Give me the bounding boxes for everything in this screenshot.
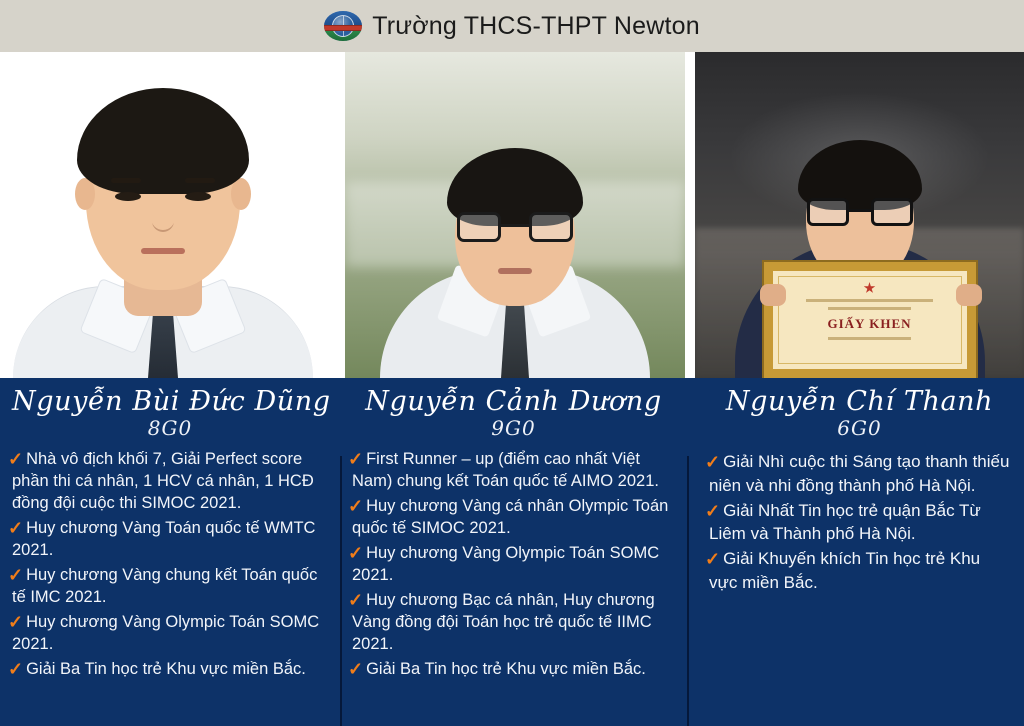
photo2-mouth <box>498 268 532 274</box>
photo2-glasses-bridge <box>501 224 529 227</box>
achievements-board: Nguyễn Bùi Đức Dũng 8G0 ✓Nhà vô địch khố… <box>0 378 1024 726</box>
achievement-text: Huy chương Vàng Olympic Toán SOMC 2021. <box>12 613 319 653</box>
photo3-glasses-icon <box>807 198 913 226</box>
poster-header: Trường THCS-THPT Newton <box>0 0 1024 52</box>
achievement-text: Giải Ba Tin học trẻ Khu vực miền Bắc. <box>366 660 646 678</box>
certificate-star-icon <box>864 282 876 294</box>
student-class-1: 8G0 <box>12 417 328 439</box>
photo3-lens-right <box>871 198 913 226</box>
achievement-item: ✓Huy chương Vàng Toán quốc tế WMTC 2021. <box>12 516 328 562</box>
achievement-item: ✓Nhà vô địch khối 7, Giải Perfect score … <box>12 447 328 515</box>
check-icon: ✓ <box>350 542 363 566</box>
student-class-3: 6G0 <box>709 417 1010 439</box>
check-icon: ✓ <box>707 499 720 523</box>
achievement-item: ✓First Runner – up (điểm cao nhất Việt N… <box>352 447 675 493</box>
student-photo-1 <box>0 52 326 378</box>
student-photo-3: GIẤY KHEN <box>695 52 1024 378</box>
achievement-text: Giải Nhì cuộc thi Sáng tạo thanh thiếu n… <box>709 452 1009 494</box>
photo1-eye-left <box>115 192 141 201</box>
photo2-glasses-icon <box>457 212 573 242</box>
photo1-brow-right <box>185 178 215 183</box>
achievement-item: ✓Giải Khuyến khích Tin học trẻ Khu vực m… <box>709 546 1010 594</box>
achievement-item: ✓Giải Ba Tin học trẻ Khu vực miền Bắc. <box>12 657 328 681</box>
achievement-text: Huy chương Vàng Toán quốc tế WMTC 2021. <box>12 519 315 559</box>
achievement-text: Huy chương Vàng Olympic Toán SOMC 2021. <box>352 544 659 584</box>
check-icon: ✓ <box>350 495 363 519</box>
school-logo-icon <box>324 11 362 41</box>
achievement-list-2: ✓First Runner – up (điểm cao nhất Việt N… <box>352 447 675 680</box>
student-name-1: Nguyễn Bùi Đức Dũng <box>12 378 328 416</box>
check-icon: ✓ <box>10 517 23 541</box>
achievement-item: ✓Giải Nhì cuộc thi Sáng tạo thanh thiếu … <box>709 449 1010 497</box>
photo1-brow-left <box>111 178 141 183</box>
photo1-mouth <box>141 248 185 254</box>
student-card-1: Nguyễn Bùi Đức Dũng 8G0 ✓Nhà vô địch khố… <box>0 378 340 726</box>
certificate-inner: GIẤY KHEN <box>778 276 962 364</box>
check-icon: ✓ <box>10 448 23 472</box>
achievement-text: Nhà vô địch khối 7, Giải Perfect score p… <box>12 450 314 512</box>
check-icon: ✓ <box>10 658 23 682</box>
student-name-2: Nguyễn Cảnh Dương <box>352 378 675 416</box>
achievement-item: ✓Huy chương Vàng Olympic Toán SOMC 2021. <box>352 541 675 587</box>
student-photo-2 <box>345 52 685 378</box>
achievement-text: Huy chương Bạc cá nhân, Huy chương Vàng … <box>352 591 655 653</box>
achievement-item: ✓Huy chương Vàng chung kết Toán quốc tế … <box>12 563 328 609</box>
student-class-2: 9G0 <box>352 417 675 439</box>
achievement-text: Giải Ba Tin học trẻ Khu vực miền Bắc. <box>26 660 306 678</box>
photo2-lens-left <box>457 212 501 242</box>
photo1-eye-right <box>185 192 211 201</box>
photo3-lens-left <box>807 198 849 226</box>
achievement-item: ✓Giải Ba Tin học trẻ Khu vực miền Bắc. <box>352 657 675 681</box>
check-icon: ✓ <box>350 589 363 613</box>
award-poster: Trường THCS-THPT Newton <box>0 0 1024 726</box>
certificate-frame: GIẤY KHEN <box>764 262 976 378</box>
certificate-line <box>828 307 912 310</box>
certificate-title: GIẤY KHEN <box>828 316 912 332</box>
achievement-text: Huy chương Vàng cá nhân Olympic Toán quố… <box>352 497 668 537</box>
achievement-list-3: ✓Giải Nhì cuộc thi Sáng tạo thanh thiếu … <box>709 449 1010 594</box>
achievement-item: ✓Huy chương Bạc cá nhân, Huy chương Vàng… <box>352 588 675 656</box>
student-name-3: Nguyễn Chí Thanh <box>709 378 1010 416</box>
achievement-list-1: ✓Nhà vô địch khối 7, Giải Perfect score … <box>12 447 328 680</box>
achievement-item: ✓Huy chương Vàng Olympic Toán SOMC 2021. <box>12 610 328 656</box>
student-card-3: Nguyễn Chí Thanh 6G0 ✓Giải Nhì cuộc thi … <box>687 378 1024 726</box>
check-icon: ✓ <box>10 611 23 635</box>
certificate-line <box>828 337 912 340</box>
check-icon: ✓ <box>350 658 363 682</box>
photo1-ear-right <box>231 178 251 210</box>
logo-red-banner <box>324 25 362 31</box>
photo-strip: GIẤY KHEN <box>0 52 1024 378</box>
achievement-item: ✓Giải Nhất Tin học trẻ quận Bắc Từ Liêm … <box>709 498 1010 546</box>
check-icon: ✓ <box>707 547 720 571</box>
achievement-text: First Runner – up (điểm cao nhất Việt Na… <box>352 450 659 490</box>
photo1-nose <box>152 210 174 232</box>
photo3-hand-left <box>760 284 786 306</box>
photo3-hand-right <box>956 284 982 306</box>
achievement-text: Huy chương Vàng chung kết Toán quốc tế I… <box>12 566 317 606</box>
photo2-lens-right <box>529 212 573 242</box>
achievement-text: Giải Nhất Tin học trẻ quận Bắc Từ Liêm v… <box>709 501 981 543</box>
student-card-2: Nguyễn Cảnh Dương 9G0 ✓First Runner – up… <box>340 378 687 726</box>
photo1-hair <box>77 88 249 194</box>
achievement-text: Giải Khuyến khích Tin học trẻ Khu vực mi… <box>709 549 980 591</box>
check-icon: ✓ <box>10 564 23 588</box>
achievement-item: ✓Huy chương Vàng cá nhân Olympic Toán qu… <box>352 494 675 540</box>
photo3-glasses-bridge <box>849 209 871 212</box>
check-icon: ✓ <box>350 448 363 472</box>
page-title: Trường THCS-THPT Newton <box>372 12 700 41</box>
certificate-line <box>806 299 933 302</box>
check-icon: ✓ <box>707 450 720 474</box>
